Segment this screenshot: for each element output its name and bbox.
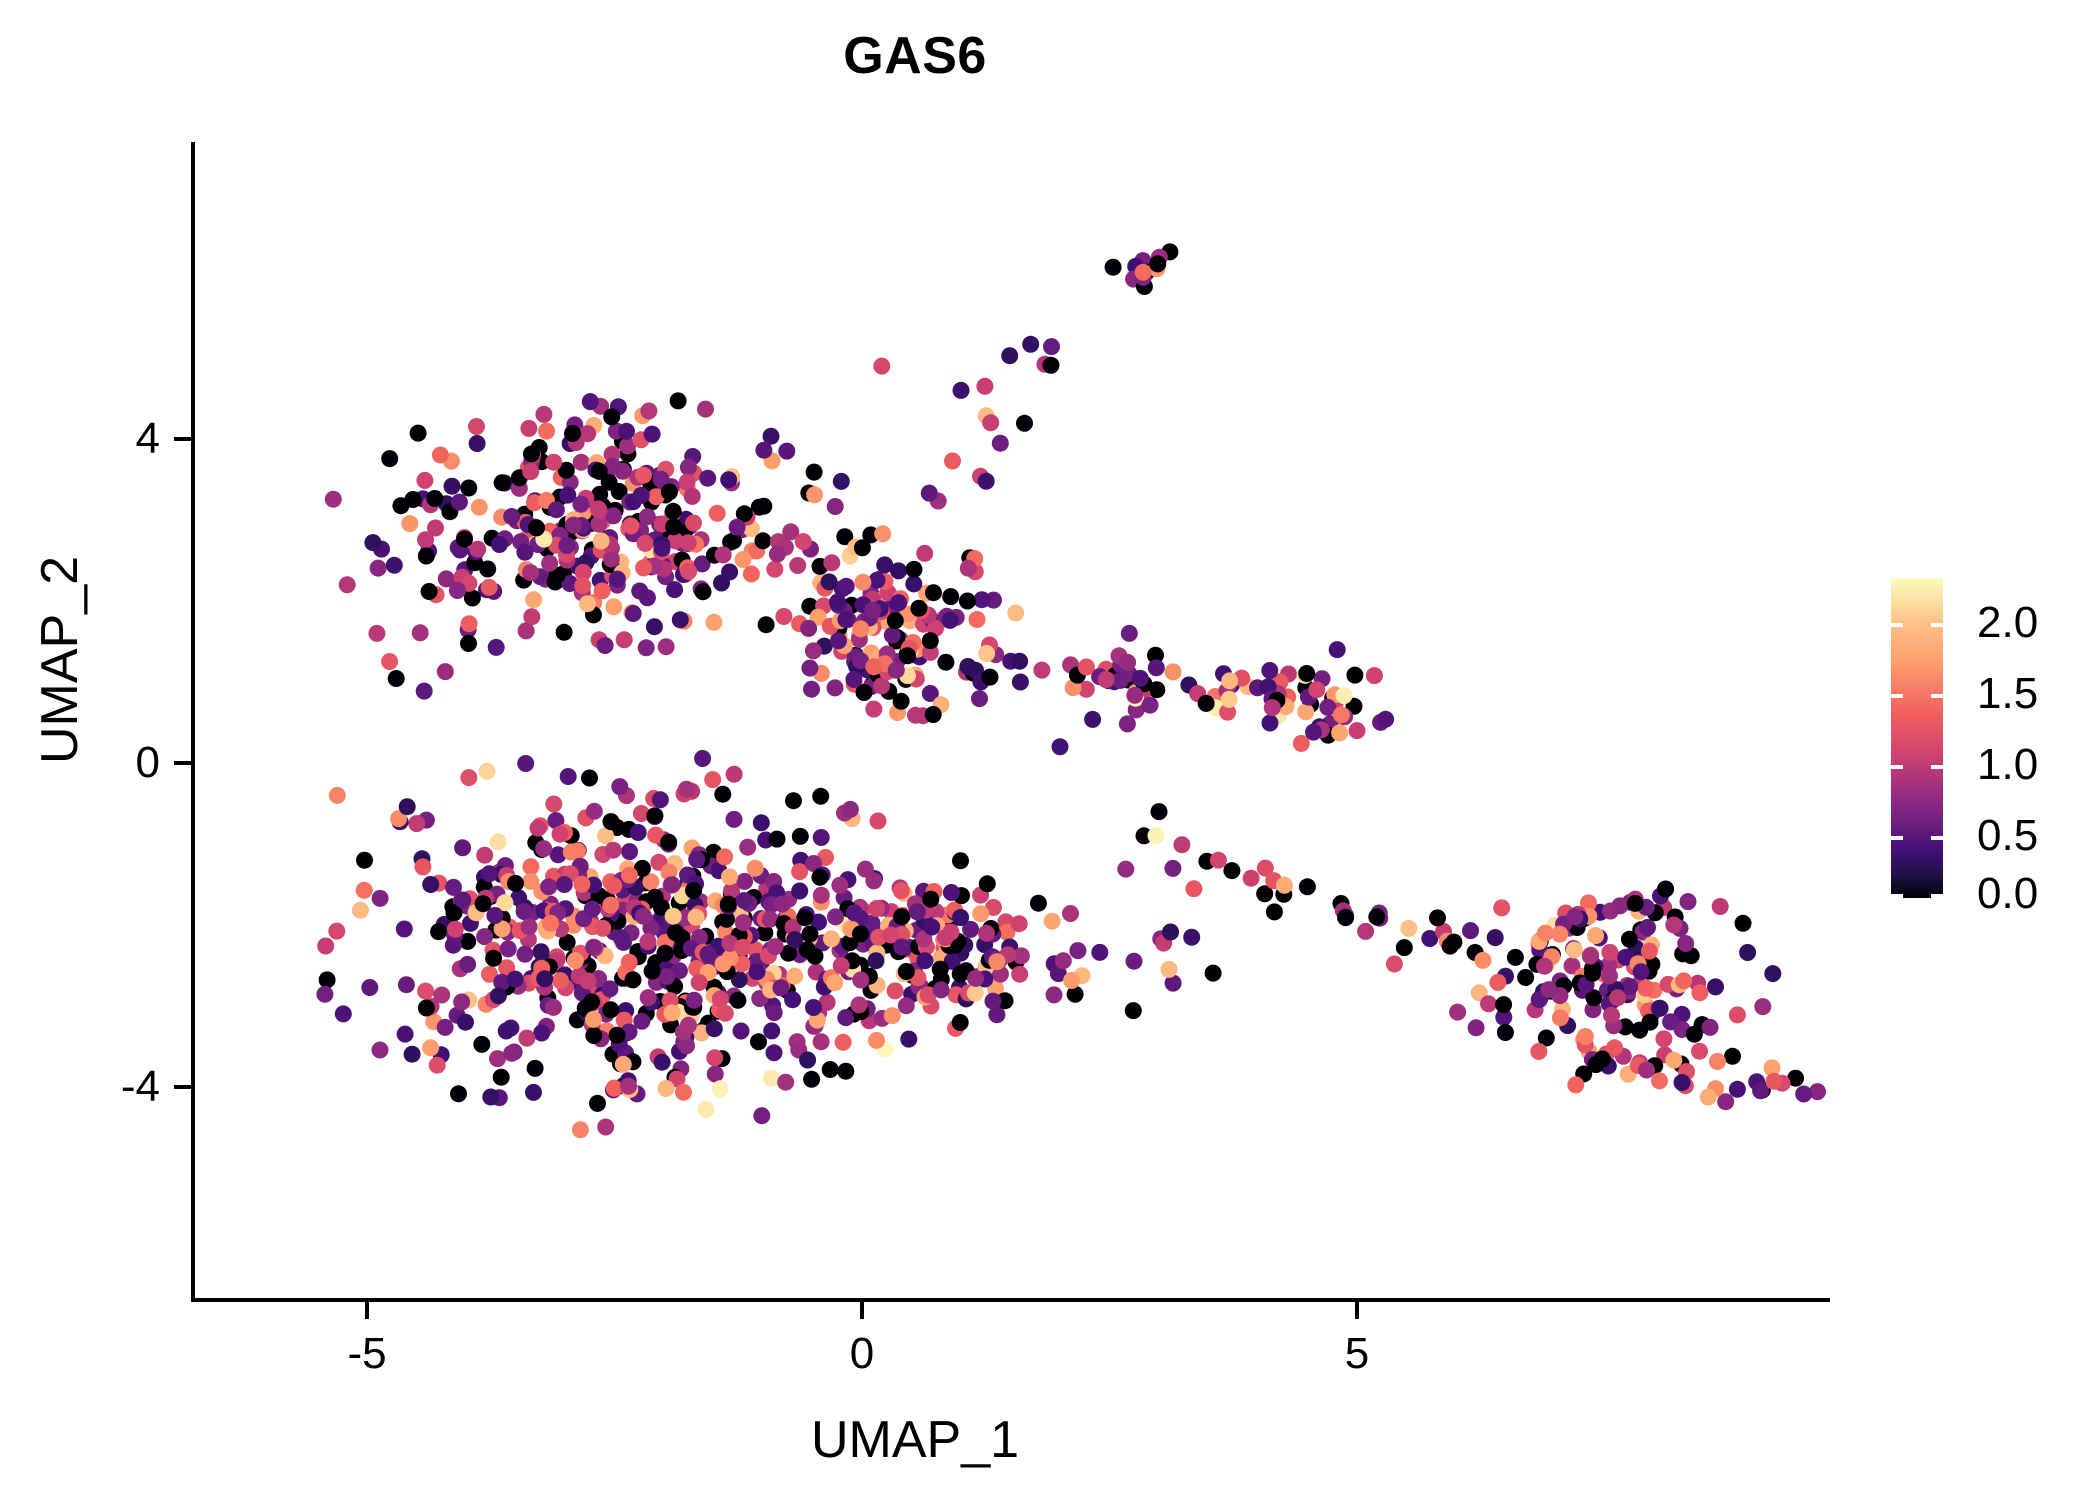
feature-plot-figure: GAS6 4 0 -4 -5 0 5 UMAP_1 UMAP_2 2.0 1.5…: [0, 0, 2100, 1500]
plot-panel: [193, 142, 1830, 1300]
colorbar-tick-1.5-left: [1891, 694, 1903, 698]
y-axis-line: [191, 142, 195, 1302]
x-axis-line: [191, 1298, 1830, 1302]
y-axis-label: UMAP_2: [30, 310, 90, 1010]
colorbar-tick-1.5-right: [1931, 694, 1943, 698]
colorbar-label-0.5: 0.5: [1977, 814, 2038, 858]
x-axis-label: UMAP_1: [0, 1410, 1830, 1470]
colorbar-label-1.5: 1.5: [1977, 672, 2038, 716]
colorbar-tick-1.0-right: [1931, 765, 1943, 769]
colorbar-tick-0.5-right: [1931, 836, 1943, 840]
colorbar-label-2.0: 2.0: [1977, 601, 2038, 645]
colorbar-legend: 2.0 1.5 1.0 0.5 0.0: [1891, 578, 2091, 898]
y-tick-mark-0: [174, 761, 191, 765]
x-tick-label-5: 5: [1345, 1332, 1369, 1376]
y-tick-mark--4: [174, 1085, 191, 1089]
colorbar-tick-2.0-right: [1931, 623, 1943, 627]
page-title: GAS6: [0, 26, 1830, 86]
colorbar-label-1.0: 1.0: [1977, 743, 2038, 787]
colorbar-tick-0.0-left: [1891, 894, 1903, 898]
colorbar-tick-1.0-left: [1891, 765, 1903, 769]
x-tick-mark-0: [860, 1302, 864, 1319]
y-tick-label--4: -4: [60, 1065, 160, 1109]
x-tick-label-0: 0: [850, 1332, 874, 1376]
colorbar-label-0.0: 0.0: [1977, 872, 2038, 916]
y-tick-mark-4: [174, 437, 191, 441]
x-tick-label--5: -5: [347, 1332, 386, 1376]
colorbar-tick-0.5-left: [1891, 836, 1903, 840]
colorbar-tick-2.0-left: [1891, 623, 1903, 627]
colorbar-tick-0.0-right: [1931, 894, 1943, 898]
x-tick-mark--5: [365, 1302, 369, 1319]
x-tick-mark-5: [1355, 1302, 1359, 1319]
